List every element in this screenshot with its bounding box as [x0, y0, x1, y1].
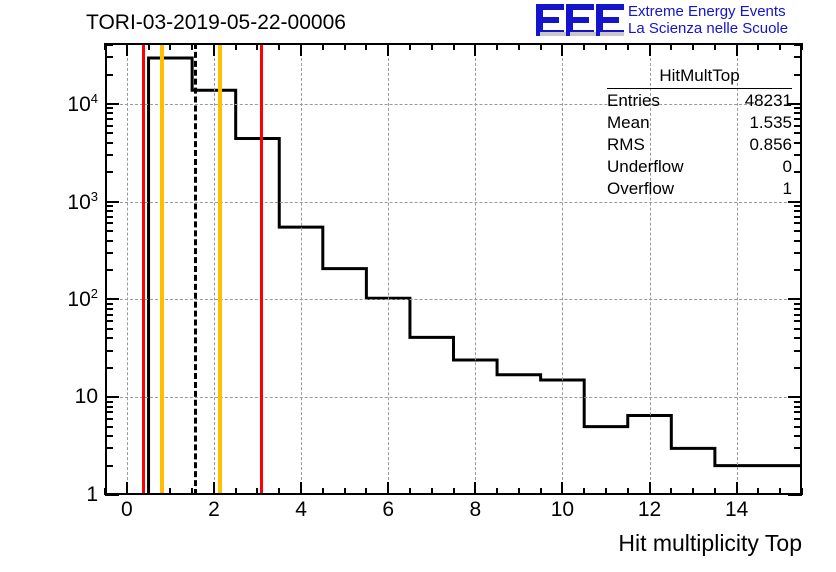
stats-row-underflow: Underflow0 [607, 156, 792, 178]
stats-box: HitMultTop Entries48231Mean1.535RMS0.856… [607, 66, 792, 200]
stats-value-entries: 48231 [745, 90, 792, 112]
stats-value-rms: 0.856 [749, 134, 792, 156]
stats-box-rows: Entries48231Mean1.535RMS0.856Underflow0O… [607, 90, 792, 200]
stats-key-rms: RMS [607, 134, 645, 156]
stats-value-underflow: 0 [783, 156, 792, 178]
stats-row-entries: Entries48231 [607, 90, 792, 112]
root-canvas: TORI-03-2019-05-22-00006 [0, 0, 836, 572]
y-tick-label-10: 10 [26, 385, 98, 409]
stats-key-underflow: Underflow [607, 156, 684, 178]
y-tick-label-100: 102 [26, 286, 98, 312]
y-tick-label-10000: 104 [26, 91, 98, 117]
stats-value-overflow: 1 [783, 178, 792, 200]
y-tick-label-1000: 103 [26, 189, 98, 215]
y-tick-label-1: 1 [26, 483, 98, 507]
stats-row-overflow: Overflow1 [607, 178, 792, 200]
stats-key-overflow: Overflow [607, 178, 674, 200]
x-axis-title: Hit multiplicity Top [618, 530, 802, 557]
stats-box-title: HitMultTop [607, 66, 792, 87]
stats-value-mean: 1.535 [749, 112, 792, 134]
stats-row-mean: Mean1.535 [607, 112, 792, 134]
stats-box-rule [607, 88, 792, 89]
stats-row-rms: RMS0.856 [607, 134, 792, 156]
stats-key-mean: Mean [607, 112, 650, 134]
stats-key-entries: Entries [607, 90, 660, 112]
